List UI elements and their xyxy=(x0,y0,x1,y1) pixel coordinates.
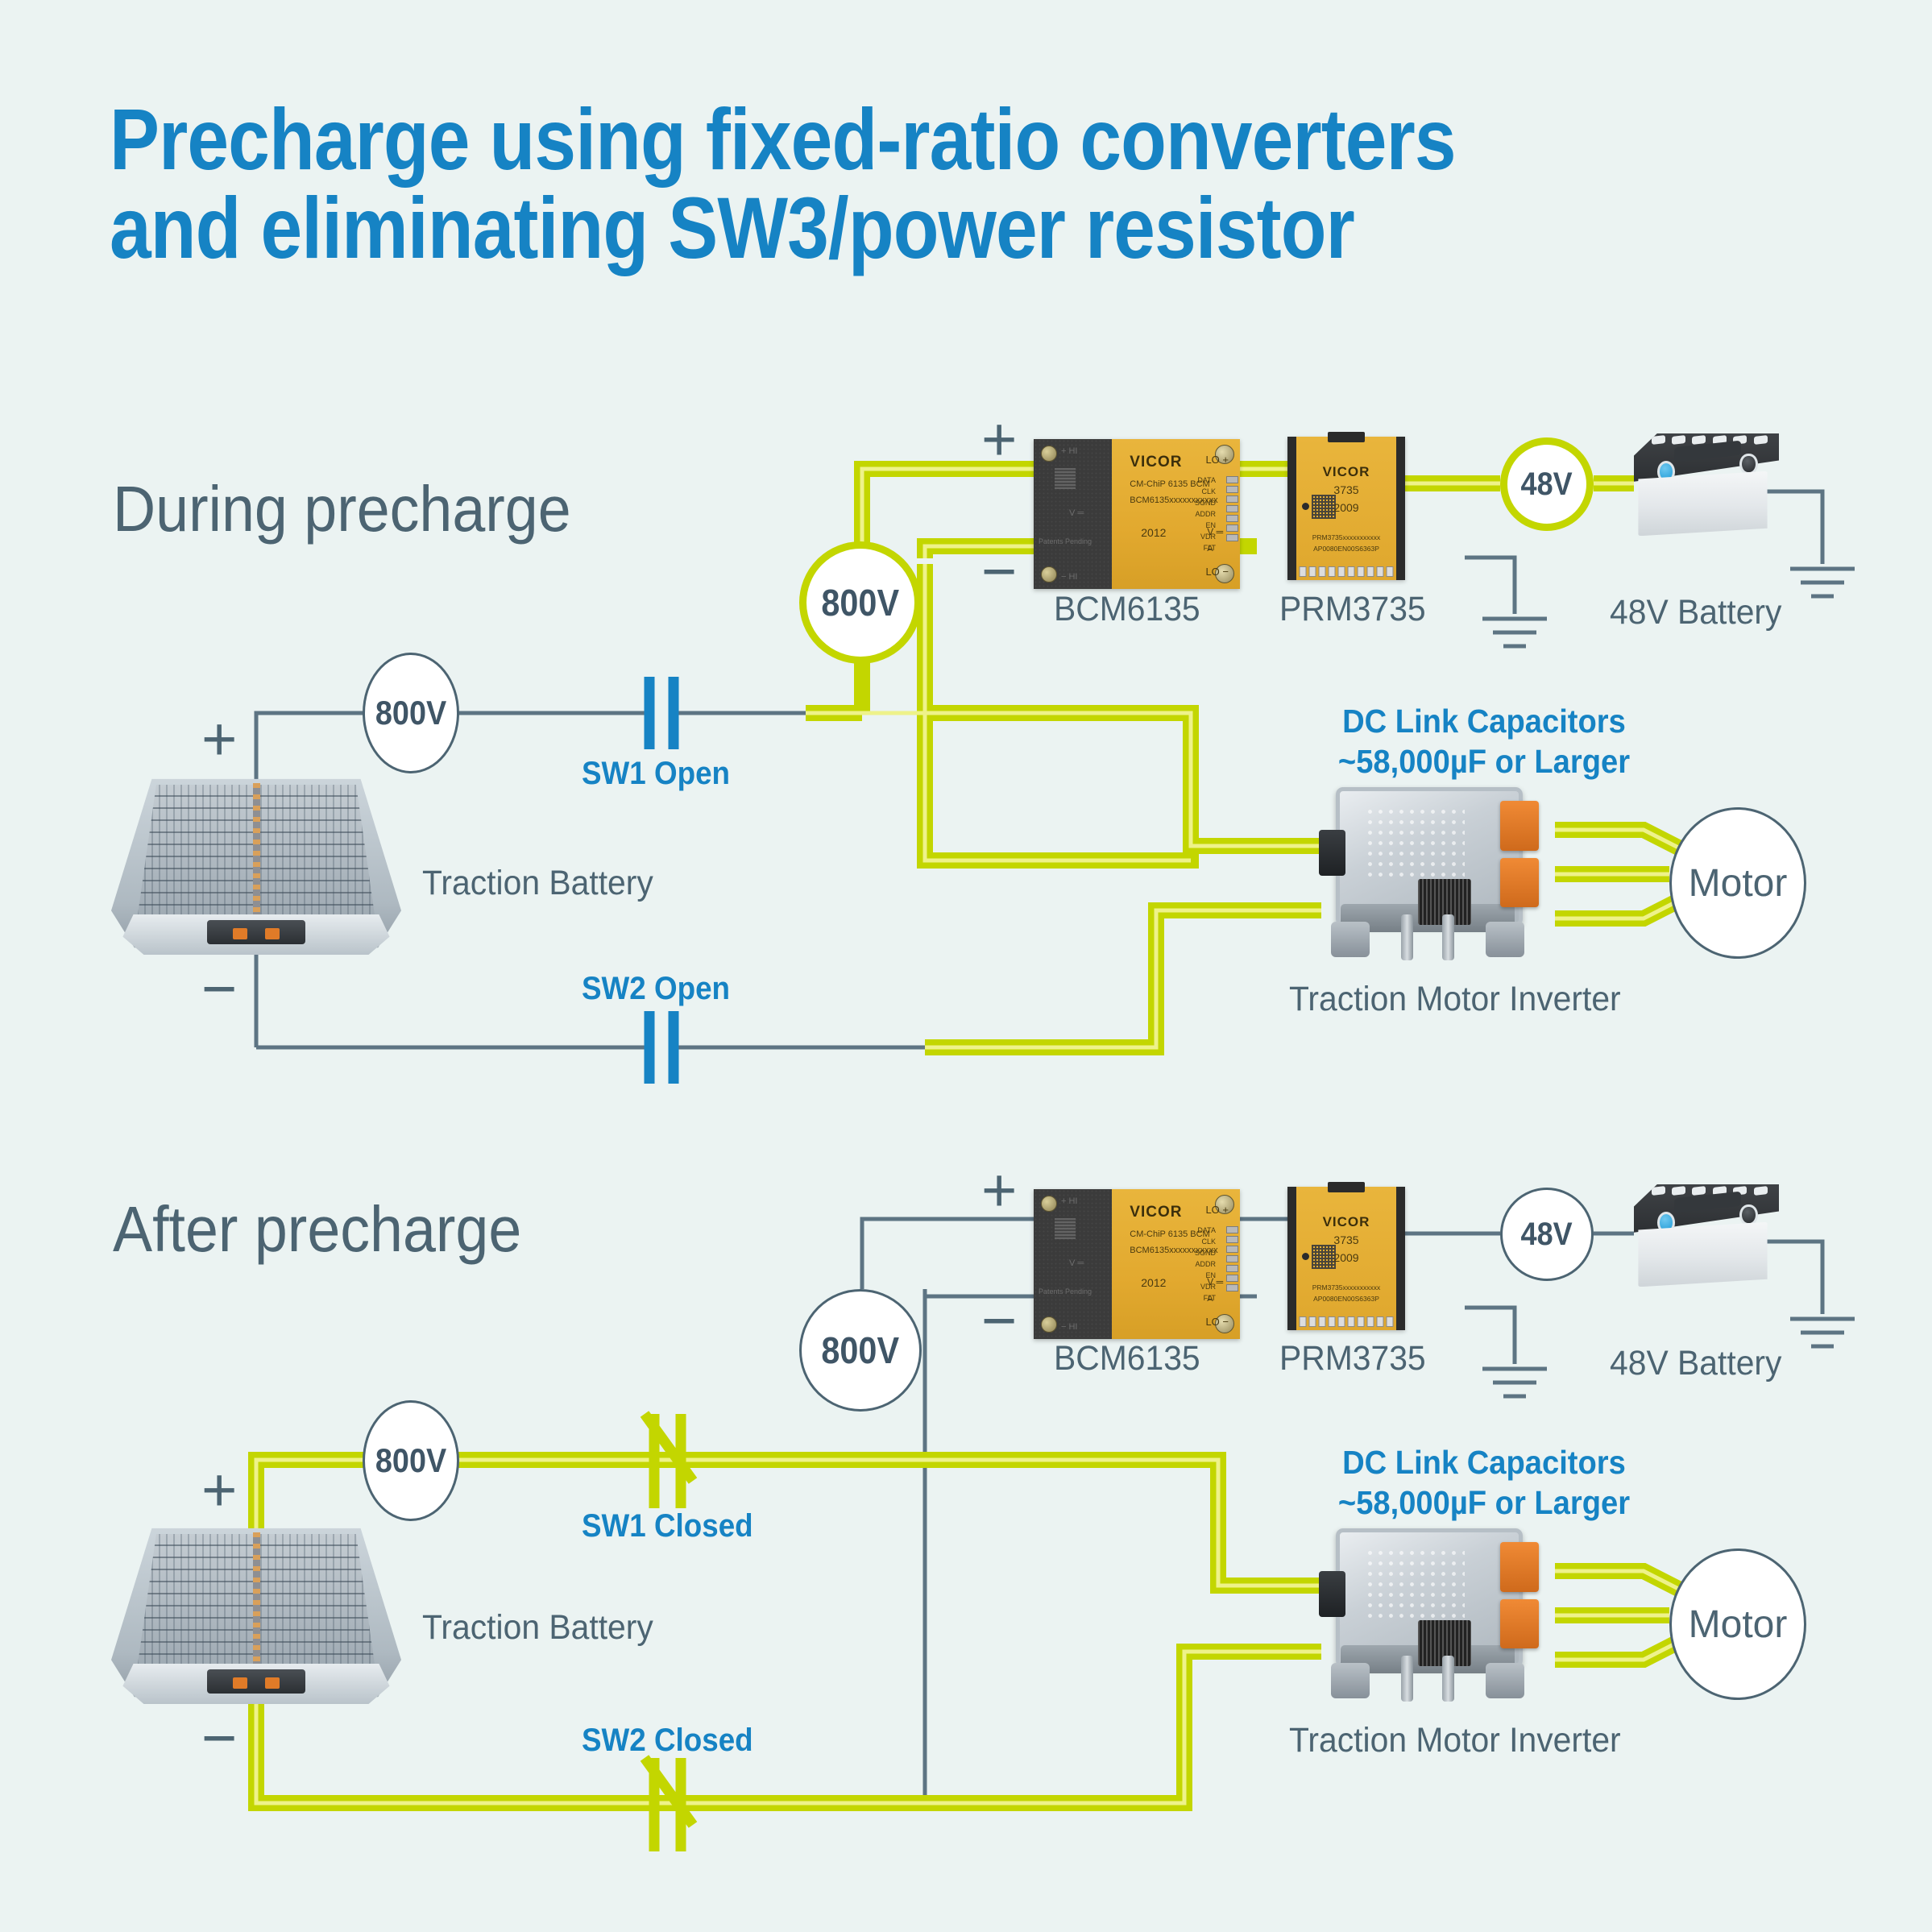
badge-48v-top: 48V xyxy=(1500,437,1594,531)
bcm-pin-vdr-bottom: VDR xyxy=(1200,1283,1216,1291)
section-heading-during-precharge: During precharge xyxy=(113,472,571,546)
bcm-lo-minus-bottom: LO − xyxy=(1205,1316,1229,1328)
bcm-pin-clk-top: CLK xyxy=(1201,487,1216,495)
label-traction-motor-inverter-top: Traction Motor Inverter xyxy=(1289,980,1621,1019)
badge-800v-source-bottom: 800V xyxy=(799,1289,922,1412)
label-sw2-top: SW2 Open xyxy=(582,971,730,1007)
bcm-brand-top: VICOR xyxy=(1130,454,1182,471)
badge-48v-bottom: 48V xyxy=(1500,1188,1594,1281)
label-prm3735-top: PRM3735 xyxy=(1279,590,1426,629)
prm-family-top: 3735 xyxy=(1287,483,1405,496)
diagram-canvas: Precharge using fixed-ratio converters a… xyxy=(0,0,1932,1932)
polarity-minus-pack-bottom: − xyxy=(201,1708,237,1769)
bcm-pin-vdr-top: VDR xyxy=(1200,533,1216,541)
prm-datecode-bottom: 2009 xyxy=(1287,1251,1405,1264)
bcm-pin-addr-bottom: ADDR xyxy=(1195,1260,1216,1268)
dc-link-line-1-bottom: DC Link Capacitors xyxy=(1319,1442,1648,1482)
label-prm3735-bottom: PRM3735 xyxy=(1279,1339,1426,1379)
bcm-datecode-top: 2012 xyxy=(1141,526,1166,539)
label-traction-motor-inverter-bottom: Traction Motor Inverter xyxy=(1289,1721,1621,1760)
prm-part2-top: AP0080EN00S6363P xyxy=(1287,545,1405,553)
prm-part2-bottom: AP0080EN00S6363P xyxy=(1287,1295,1405,1303)
label-48v-battery-bottom: 48V Battery xyxy=(1610,1344,1781,1383)
dc-link-line-2-top: ~58,000µF or Larger xyxy=(1319,741,1648,782)
prm-datecode-top: 2009 xyxy=(1287,501,1405,514)
bcm-pin-addr-top: ADDR xyxy=(1195,510,1216,518)
bcm-hi-top-label-top: + HI xyxy=(1061,446,1077,456)
module-prm3735-top: VICOR 3735 2009 PRM3735xxxxxxxxxxx AP008… xyxy=(1287,437,1405,580)
prm-brand-bottom: VICOR xyxy=(1287,1214,1405,1230)
bcm-pin-data-bottom: DATA xyxy=(1197,1226,1216,1234)
bcm-lo-plus-bottom: LO + xyxy=(1205,1204,1229,1216)
motor-bottom: Motor xyxy=(1669,1549,1806,1700)
traction-motor-inverter-bottom xyxy=(1321,1521,1563,1698)
prm-family-bottom: 3735 xyxy=(1287,1233,1405,1246)
label-bcm6135-bottom: BCM6135 xyxy=(1054,1339,1200,1379)
battery-48v-bottom xyxy=(1634,1184,1779,1289)
section-heading-after-precharge: After precharge xyxy=(113,1192,521,1267)
bcm-lo-minus-top: LO − xyxy=(1205,566,1229,578)
prm-brand-top: VICOR xyxy=(1287,464,1405,480)
label-bcm6135-top: BCM6135 xyxy=(1054,590,1200,629)
label-sw2-bottom: SW2 Closed xyxy=(582,1723,753,1759)
prm-part-bottom: PRM3735xxxxxxxxxxx xyxy=(1287,1283,1405,1291)
bcm-hi-bot-label-top: − HI xyxy=(1061,572,1077,582)
bcm-pin-flt-bottom: FLT xyxy=(1204,1294,1216,1302)
dc-link-line-1-top: DC Link Capacitors xyxy=(1319,701,1648,741)
bcm-pin-clk-bottom: CLK xyxy=(1201,1238,1216,1246)
label-48v-battery-top: 48V Battery xyxy=(1610,593,1781,632)
bcm-lo-plus-top: LO + xyxy=(1205,454,1229,466)
annotation-dc-link-top: DC Link Capacitors ~58,000µF or Larger xyxy=(1319,701,1648,782)
label-traction-battery-bottom: Traction Battery xyxy=(422,1608,653,1648)
bcm-pin-sgnd-top: SGND xyxy=(1195,499,1216,507)
motor-top: Motor xyxy=(1669,807,1806,959)
label-traction-battery-top: Traction Battery xyxy=(422,864,653,903)
bcm-hi-bot-label-bottom: − HI xyxy=(1061,1322,1077,1332)
module-prm3735-bottom: VICOR 3735 2009 PRM3735xxxxxxxxxxx AP008… xyxy=(1287,1187,1405,1330)
bcm-pin-data-top: DATA xyxy=(1197,476,1216,484)
dc-link-line-2-bottom: ~58,000µF or Larger xyxy=(1319,1482,1648,1523)
bcm-patent-label-top: Patents Pending xyxy=(1039,537,1092,545)
bcm-datecode-bottom: 2012 xyxy=(1141,1276,1166,1289)
polarity-minus-pack-top: − xyxy=(201,959,237,1020)
switch-sw2-open-symbol[interactable] xyxy=(649,1011,674,1084)
label-sw1-top: SW1 Open xyxy=(582,756,730,792)
polarity-minus-bcm-bottom: − xyxy=(981,1291,1017,1352)
bcm-patent-label-bottom: Patents Pending xyxy=(1039,1287,1092,1296)
module-bcm6135-top: + HI − HI V ═ Patents Pending VICOR LO +… xyxy=(1034,439,1240,589)
switch-sw1-open-symbol[interactable] xyxy=(649,677,674,749)
badge-800v-pack-top: 800V xyxy=(363,653,459,773)
annotation-dc-link-bottom: DC Link Capacitors ~58,000µF or Larger xyxy=(1319,1442,1648,1523)
bcm-pin-flt-top: FLT xyxy=(1204,544,1216,552)
traction-battery-pack-bottom xyxy=(111,1523,401,1708)
badge-800v-source-top: 800V xyxy=(799,541,922,664)
bcm-pin-en-top: EN xyxy=(1205,521,1216,529)
polarity-plus-bcm-bottom: + xyxy=(981,1160,1017,1221)
module-bcm6135-bottom: + HI − HI V ═ Patents Pending VICOR LO +… xyxy=(1034,1189,1240,1339)
polarity-minus-bcm-top: − xyxy=(981,541,1017,603)
badge-800v-pack-bottom: 800V xyxy=(363,1400,459,1521)
polarity-plus-bcm-top: + xyxy=(981,409,1017,471)
bcm-pin-en-bottom: EN xyxy=(1205,1271,1216,1279)
bcm-brand-bottom: VICOR xyxy=(1130,1204,1182,1221)
bcm-vin-label-top: V ═ xyxy=(1069,508,1084,518)
prm-part-top: PRM3735xxxxxxxxxxx xyxy=(1287,533,1405,541)
label-sw1-bottom: SW1 Closed xyxy=(582,1508,753,1544)
battery-48v-top xyxy=(1634,433,1779,538)
polarity-plus-pack-top: + xyxy=(201,709,237,770)
bcm-vin-label-bottom: V ═ xyxy=(1069,1258,1084,1268)
bcm-hi-top-label-bottom: + HI xyxy=(1061,1196,1077,1206)
polarity-plus-pack-bottom: + xyxy=(201,1460,237,1521)
traction-battery-pack-top xyxy=(111,773,401,959)
bcm-pin-sgnd-bottom: SGND xyxy=(1195,1249,1216,1257)
traction-motor-inverter-top xyxy=(1321,780,1563,957)
